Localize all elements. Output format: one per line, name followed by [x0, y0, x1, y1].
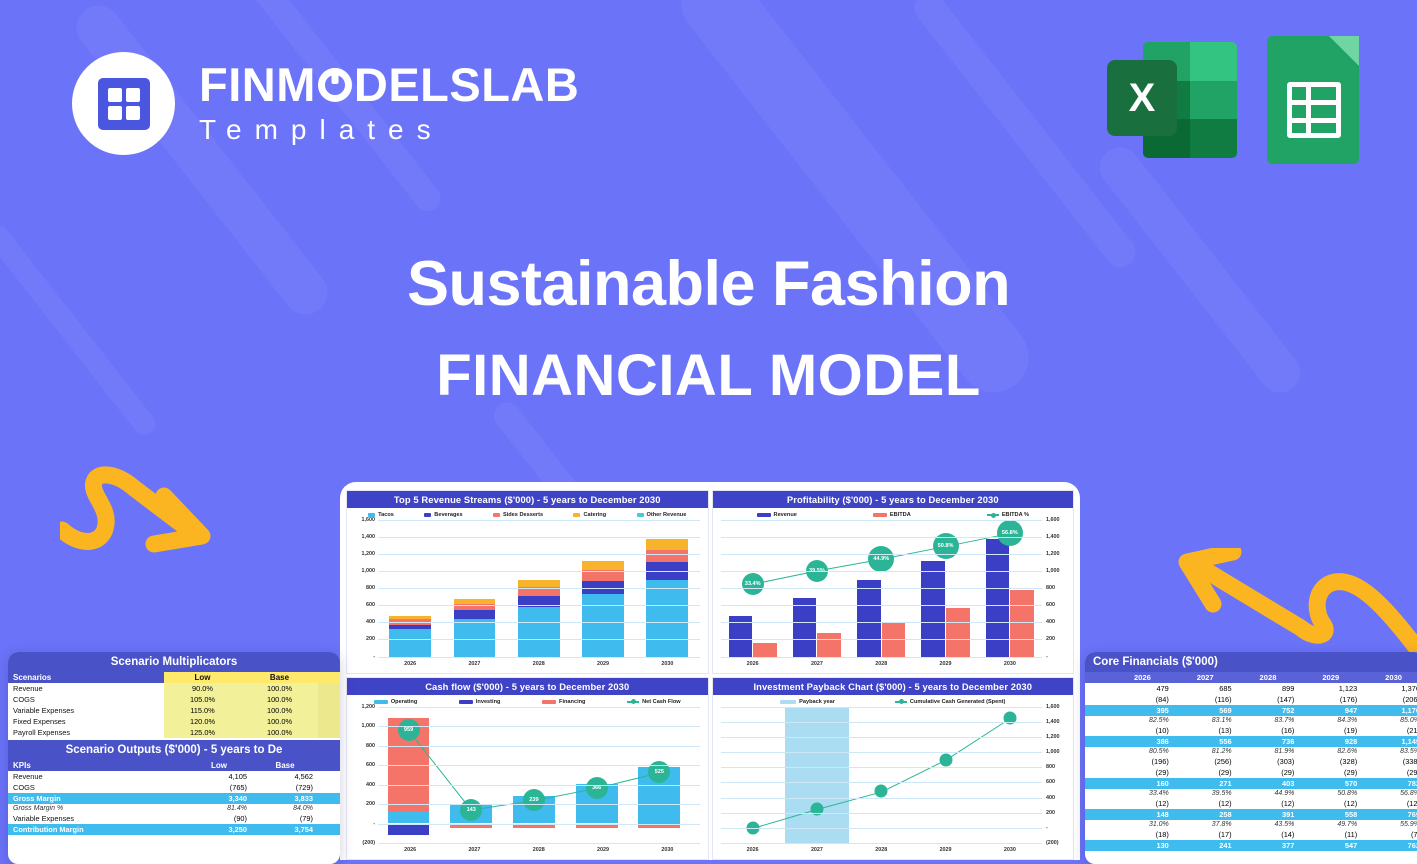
cell-value: 685 [1174, 683, 1237, 694]
cell-value: (84) [1111, 694, 1174, 705]
cell-value: (12) [1111, 798, 1174, 809]
cell-value: 81.2% [1174, 747, 1237, 756]
y-axis: 1,6001,4001,2001,000800600400200- [351, 520, 377, 657]
cell-value: (147) [1237, 694, 1300, 705]
col-low: Low [186, 760, 252, 771]
gridline [378, 765, 700, 766]
x-axis: 20262027202820292030 [721, 843, 1043, 857]
axis-tick: 600 [366, 762, 375, 768]
cell-low: 105.0% [164, 694, 241, 705]
gridline [378, 622, 700, 623]
axis-tick: 400 [1046, 619, 1055, 625]
cell-extra [318, 771, 340, 782]
cell-value: 39.5% [1174, 789, 1237, 798]
cell-value: 85.0% [1362, 716, 1417, 725]
col-year: 2028 [1237, 672, 1300, 683]
x-axis-label: 2026 [747, 847, 759, 853]
row-label [1085, 705, 1111, 716]
x-axis-label: 2028 [533, 661, 545, 667]
chart-plot-area: 33.4%39.5%44.9%50.8%56.8% 1,6001,4001,20… [717, 520, 1070, 671]
row-label [1085, 725, 1111, 736]
axis-tick: 1,600 [362, 517, 376, 523]
gridline [721, 537, 1043, 538]
cell-extra [318, 694, 340, 705]
axis-tick: (200) [1046, 840, 1059, 846]
cell-low: 90.0% [164, 683, 241, 694]
gridline [721, 722, 1043, 723]
table-row[interactable]: (18)(17)(14)(11)(7) [1085, 829, 1417, 840]
brand-name: FINM DELSLAB [199, 61, 579, 108]
table-row[interactable]: Gross Margin %81.4%84.0% [8, 804, 340, 813]
x-axis-label: 2030 [1004, 847, 1016, 853]
legend-item: Operating [374, 699, 417, 705]
row-label [1085, 840, 1111, 851]
row-label: Gross Margin [8, 793, 186, 804]
table-row[interactable]: Gross Margin3,3403,833 [8, 793, 340, 804]
data-label-bubble: 366 [586, 777, 608, 799]
chart-title: Investment Payback Chart ($'000) - 5 yea… [713, 678, 1074, 695]
gridline [721, 588, 1043, 589]
row-label [1085, 756, 1111, 767]
x-axis-label: 2030 [1004, 661, 1016, 667]
cell-extra [318, 683, 340, 694]
x-axis: 20262027202820292030 [721, 657, 1043, 671]
axis-tick: 800 [366, 585, 375, 591]
x-axis-label: 2030 [661, 847, 673, 853]
data-label-bubble: 33.4% [742, 573, 764, 595]
row-label: Payroll Expenses [8, 727, 164, 738]
x-axis-label: 2026 [404, 661, 416, 667]
axis-tick: - [373, 821, 375, 827]
cell-value: (12) [1299, 798, 1362, 809]
axis-tick: 600 [1046, 779, 1055, 785]
cell-value: (328) [1299, 756, 1362, 767]
cell-value: 947 [1299, 705, 1362, 716]
axis-tick: 1,200 [362, 551, 376, 557]
cell-value: (29) [1299, 767, 1362, 778]
y-axis-right: 1,6001,4001,2001,000800600400200-(200) [1043, 707, 1069, 844]
cell-extra [318, 793, 340, 804]
table-row[interactable]: COGS105.0%100.0% [8, 694, 340, 705]
table-row[interactable]: 33.4%39.5%44.9%50.8%56.8% [1085, 789, 1417, 798]
cell-value: 736 [1237, 736, 1300, 747]
x-axis-label: 2026 [747, 661, 759, 667]
cell-value: (17) [1174, 829, 1237, 840]
cell-value: (16) [1237, 725, 1300, 736]
row-label [1085, 809, 1111, 820]
table-row[interactable]: (196)(256)(303)(328)(338) [1085, 756, 1417, 767]
cell-value: (256) [1174, 756, 1237, 767]
x-axis-label: 2026 [404, 847, 416, 853]
cell-value: 928 [1299, 736, 1362, 747]
x-axis-label: 2028 [875, 661, 887, 667]
x-axis-label: 2028 [875, 847, 887, 853]
row-label: Revenue [8, 771, 186, 782]
x-axis-label: 2030 [661, 661, 673, 667]
legend-item: Beverages [424, 512, 462, 518]
table-header-row: KPIs Low Base [8, 760, 340, 771]
gridline [721, 571, 1043, 572]
brand-name-part1: FINM [199, 61, 316, 108]
axis-tick: 200 [1046, 636, 1055, 642]
cell-value: (196) [1111, 756, 1174, 767]
cell-extra [318, 705, 340, 716]
table-row[interactable]: Revenue4,1054,562 [8, 771, 340, 782]
gridline [378, 571, 700, 572]
table-row[interactable]: (29)(29)(29)(29)(29) [1085, 767, 1417, 778]
cell-base: 100.0% [241, 727, 318, 738]
axis-tick: 1,600 [1046, 704, 1060, 710]
row-label [1085, 778, 1111, 789]
axis-tick: 1,000 [1046, 568, 1060, 574]
brand-o-icon [318, 68, 352, 102]
chart-title: Top 5 Revenue Streams ($'000) - 5 years … [347, 491, 708, 508]
table-row[interactable]: 3955697529471,170 [1085, 705, 1417, 716]
cell-value: 81.9% [1237, 747, 1300, 756]
legend-item: Other Revenue [637, 512, 687, 518]
x-axis-label: 2027 [468, 847, 480, 853]
core-financials-card: Core Financials ($'000) 2026202720282029… [1085, 652, 1417, 864]
axis-tick: 1,400 [1046, 534, 1060, 540]
table-row[interactable]: Payroll Expenses125.0%100.0% [8, 727, 340, 738]
x-axis-label: 2029 [597, 847, 609, 853]
chart-legend: Payback year Cumulative Cash Generated (… [713, 695, 1074, 707]
cell-value: (338) [1362, 756, 1417, 767]
bar-segment [454, 619, 496, 657]
table-row[interactable]: (12)(12)(12)(12)(12) [1085, 798, 1417, 809]
gridline [378, 804, 700, 805]
x-axis-label: 2029 [940, 847, 952, 853]
excel-icon: X [1107, 36, 1237, 164]
cell-value: (29) [1237, 767, 1300, 778]
legend-item: Revenue [757, 512, 797, 518]
axis-tick: 800 [1046, 764, 1055, 770]
table-row[interactable]: 130241377547762 [1085, 840, 1417, 851]
row-label: Variable Expenses [8, 705, 164, 716]
google-sheets-icon [1267, 36, 1359, 164]
cell-value: 84.3% [1299, 716, 1362, 725]
table-row[interactable]: COGS(765)(729) [8, 782, 340, 793]
bar-segment [646, 539, 688, 550]
axis-tick: 1,200 [362, 704, 376, 710]
chart-revenue-streams[interactable]: Top 5 Revenue Streams ($'000) - 5 years … [346, 490, 709, 674]
arrow-left-decorative-icon [60, 452, 240, 572]
chart-title: Profitability ($'000) - 5 years to Decem… [713, 491, 1074, 508]
axis-tick: 400 [1046, 795, 1055, 801]
cell-extra [318, 824, 340, 835]
axis-tick: 400 [366, 619, 375, 625]
grid-area: 959143239366525 [378, 707, 700, 844]
row-label [1085, 767, 1111, 778]
cell-base: 100.0% [241, 716, 318, 727]
cell-base: (729) [252, 782, 318, 793]
cell-value: (19) [1299, 725, 1362, 736]
cell-base: 84.0% [252, 804, 318, 813]
core-financials-table[interactable]: 20262027202820292030 4796858991,1231,376… [1085, 672, 1417, 851]
bar-segment [646, 580, 688, 657]
table-row[interactable]: 160271403570782 [1085, 778, 1417, 789]
x-axis: 20262027202820292030 [378, 843, 700, 857]
cell-value: (29) [1174, 767, 1237, 778]
table-row[interactable]: (10)(13)(16)(19)(21) [1085, 725, 1417, 736]
table-row[interactable]: 3865567369281,149 [1085, 736, 1417, 747]
table-row[interactable]: Variable Expenses(90)(79) [8, 813, 340, 824]
cell-low: 4,105 [186, 771, 252, 782]
bar-segment [454, 610, 496, 619]
gridline [721, 813, 1043, 814]
cell-low: 125.0% [164, 727, 241, 738]
cell-value: (13) [1174, 725, 1237, 736]
cell-low: 3,340 [186, 793, 252, 804]
cell-value: 49.7% [1299, 820, 1362, 829]
data-label-bubble: 239 [523, 789, 545, 811]
cell-value: 395 [1111, 705, 1174, 716]
col-base: Base [241, 672, 318, 683]
col-low: Low [164, 672, 241, 683]
table-row[interactable]: Variable Expenses115.0%100.0% [8, 705, 340, 716]
gridline [378, 707, 700, 708]
table-row[interactable]: 82.5%83.1%83.7%84.3%85.0% [1085, 716, 1417, 725]
chart-legend: Tacos Beverages Sides Desserts Catering … [347, 508, 708, 520]
bar-segment [389, 629, 431, 656]
col-base: Base [252, 760, 318, 771]
cell-value: 1,376 [1362, 683, 1417, 694]
cell-value: 82.6% [1299, 747, 1362, 756]
chart-legend: Operating Investing Financing Net Cash F… [347, 695, 708, 707]
cell-value: 569 [1174, 705, 1237, 716]
y-axis-right: 1,6001,4001,2001,000800600400200- [1043, 520, 1069, 657]
row-label [1085, 820, 1111, 829]
gridline [378, 605, 700, 606]
cell-low: 120.0% [164, 716, 241, 727]
table-row[interactable]: 4796858991,1231,376 [1085, 683, 1417, 694]
row-label [1085, 747, 1111, 756]
cell-base: 100.0% [241, 683, 318, 694]
col-year: 2026 [1111, 672, 1174, 683]
axis-tick: 1,000 [1046, 749, 1060, 755]
gridline [378, 639, 700, 640]
gridline [721, 782, 1043, 783]
cell-extra [318, 727, 340, 738]
cell-value: 899 [1237, 683, 1300, 694]
axis-tick: - [1046, 825, 1048, 831]
chart-profitability[interactable]: Profitability ($'000) - 5 years to Decem… [712, 490, 1075, 674]
gridline [378, 554, 700, 555]
cell-value: (21) [1362, 725, 1417, 736]
gridline [378, 726, 700, 727]
cell-value: 752 [1237, 705, 1300, 716]
axis-tick: 1,400 [362, 534, 376, 540]
col-scenarios: Scenarios [8, 672, 164, 683]
data-label-bubble: 143 [460, 799, 482, 821]
row-label [1085, 789, 1111, 798]
cell-value: 769 [1362, 809, 1417, 820]
row-label [1085, 736, 1111, 747]
gridline [721, 554, 1043, 555]
bar-segment [582, 594, 624, 656]
cell-extra [318, 782, 340, 793]
axis-tick: 1,000 [362, 723, 376, 729]
chart-legend: Revenue EBITDA EBITDA % [713, 508, 1074, 520]
table-row[interactable]: Revenue90.0%100.0% [8, 683, 340, 694]
x-axis-label: 2029 [597, 661, 609, 667]
cell-value: 570 [1299, 778, 1362, 789]
excel-x-letter: X [1107, 60, 1177, 136]
row-label: Variable Expenses [8, 813, 186, 824]
cell-extra [318, 716, 340, 727]
scenario-multipliers-table[interactable]: Scenarios Low Base Revenue90.0%100.0%COG… [8, 672, 340, 738]
cell-value: 130 [1111, 840, 1174, 851]
scenario-outputs-table[interactable]: KPIs Low Base Revenue4,1054,562COGS(765)… [8, 760, 340, 835]
cell-base: 4,562 [252, 771, 318, 782]
table-row[interactable]: Contribution Margin3,2503,754 [8, 824, 340, 835]
data-label-bubble: 56.8% [997, 520, 1023, 546]
cell-value: 241 [1174, 840, 1237, 851]
cell-value: 1,123 [1299, 683, 1362, 694]
gridline [378, 785, 700, 786]
row-label: COGS [8, 782, 186, 793]
cell-value: (116) [1174, 694, 1237, 705]
cell-value: 377 [1237, 840, 1300, 851]
cell-value: 403 [1237, 778, 1300, 789]
bar-segment [518, 580, 560, 588]
cell-low: 81.4% [186, 804, 252, 813]
cell-value: 44.9% [1237, 789, 1300, 798]
table-row[interactable]: (84)(116)(147)(176)(206) [1085, 694, 1417, 705]
table-header-row: 20262027202820292030 [1085, 672, 1417, 683]
gridline [378, 588, 700, 589]
brand-name-part2: DELSLAB [354, 61, 579, 108]
axis-tick: 200 [1046, 810, 1055, 816]
cell-value: 762 [1362, 840, 1417, 851]
y-axis: 1,2001,000800600400200-(200) [351, 707, 377, 844]
bar-segment [646, 550, 688, 562]
cell-value: 479 [1111, 683, 1174, 694]
gridline [721, 828, 1043, 829]
page-title-line1: Sustainable Fashion [0, 248, 1417, 320]
cell-extra [318, 813, 340, 824]
row-label [1085, 798, 1111, 809]
row-label [1085, 829, 1111, 840]
cell-value: 43.5% [1237, 820, 1300, 829]
legend-item: Sides Desserts [493, 512, 543, 518]
cell-value: 83.5% [1362, 747, 1417, 756]
cell-low: (765) [186, 782, 252, 793]
core-financials-title: Core Financials ($'000) [1085, 652, 1417, 672]
cell-value: (7) [1362, 829, 1417, 840]
axis-tick: 400 [366, 782, 375, 788]
cell-value: 1,170 [1362, 705, 1417, 716]
cell-value: 391 [1237, 809, 1300, 820]
table-row[interactable]: 148258391558769 [1085, 809, 1417, 820]
gridline [378, 520, 700, 521]
x-axis-label: 2028 [533, 847, 545, 853]
cell-value: 56.8% [1362, 789, 1417, 798]
table-row[interactable]: 80.5%81.2%81.9%82.6%83.5% [1085, 747, 1417, 756]
axis-tick: 800 [1046, 585, 1055, 591]
gridline [721, 737, 1043, 738]
cell-value: 258 [1174, 809, 1237, 820]
table-header-row: Scenarios Low Base [8, 672, 340, 683]
axis-tick: - [1046, 654, 1048, 660]
logo-mark [72, 52, 175, 155]
axis-tick: 600 [1046, 602, 1055, 608]
cell-value: 83.7% [1237, 716, 1300, 725]
row-label: Contribution Margin [8, 824, 186, 835]
sheets-grid-icon [1287, 82, 1341, 138]
chart-cash-flow[interactable]: Cash flow ($'000) - 5 years to December … [346, 677, 709, 861]
gridline [721, 622, 1043, 623]
gridline [721, 639, 1043, 640]
row-label: COGS [8, 694, 164, 705]
gridline [721, 605, 1043, 606]
bar-segment [518, 607, 560, 656]
cell-value: 148 [1111, 809, 1174, 820]
chart-investment-payback[interactable]: Investment Payback Chart ($'000) - 5 yea… [712, 677, 1075, 861]
cell-base: 3,833 [252, 793, 318, 804]
brand-logo: FINM DELSLAB Templates [72, 52, 579, 155]
cell-value: (11) [1299, 829, 1362, 840]
dashboard-charts-card: Top 5 Revenue Streams ($'000) - 5 years … [340, 482, 1080, 860]
legend-item: Investing [459, 699, 501, 705]
cell-low: (90) [186, 813, 252, 824]
data-label-bubble: 959 [398, 719, 420, 741]
cumulative-cash-line [721, 707, 1043, 844]
cell-base: 3,754 [252, 824, 318, 835]
cell-value: (176) [1299, 694, 1362, 705]
brand-tagline: Templates [199, 114, 579, 146]
legend-item: Catering [573, 512, 606, 518]
scenario-multipliers-title: Scenario Multiplicators [8, 652, 340, 672]
table-row[interactable]: Fixed Expenses120.0%100.0% [8, 716, 340, 727]
row-label: Gross Margin % [8, 804, 186, 813]
data-point [875, 785, 888, 798]
x-axis-label: 2027 [811, 847, 823, 853]
gridline [721, 707, 1043, 708]
page-title-line2: FINANCIAL MODEL [0, 342, 1417, 409]
cell-value: (14) [1237, 829, 1300, 840]
gridline [378, 824, 700, 825]
bar-segment [582, 561, 624, 571]
grid-area: 33.4%39.5%44.9%50.8%56.8% [721, 520, 1043, 657]
row-label [1085, 683, 1111, 694]
cell-base: (79) [252, 813, 318, 824]
grid-area [378, 520, 700, 657]
cell-value: 33.4% [1111, 789, 1174, 798]
grid-area [721, 707, 1043, 844]
cell-value: 55.9% [1362, 820, 1417, 829]
axis-tick: 1,200 [1046, 734, 1060, 740]
cell-value: (18) [1111, 829, 1174, 840]
col-year: 2029 [1299, 672, 1362, 683]
x-axis-label: 2027 [811, 661, 823, 667]
cell-value: (12) [1174, 798, 1237, 809]
axis-tick: 200 [366, 801, 375, 807]
data-label-bubble: 44.9% [868, 546, 894, 572]
cell-value: 1,149 [1362, 736, 1417, 747]
gridline [721, 798, 1043, 799]
data-point [939, 753, 952, 766]
cell-value: 50.8% [1299, 789, 1362, 798]
cell-value: (206) [1362, 694, 1417, 705]
cell-value: (10) [1111, 725, 1174, 736]
axis-tick: 1,200 [1046, 551, 1060, 557]
cell-base: 100.0% [241, 705, 318, 716]
axis-tick: 1,600 [1046, 517, 1060, 523]
x-axis: 20262027202820292030 [378, 657, 700, 671]
cell-value: 83.1% [1174, 716, 1237, 725]
table-row[interactable]: 31.0%37.8%43.5%49.7%55.9% [1085, 820, 1417, 829]
